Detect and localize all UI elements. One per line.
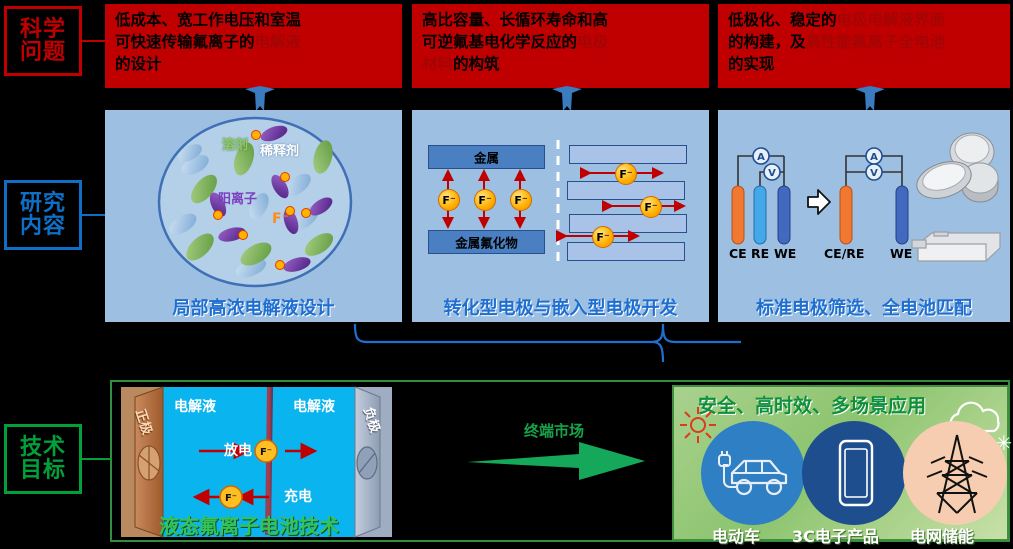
connector-research <box>82 214 105 216</box>
rail-goal-line1: 技术 <box>20 436 66 459</box>
svg-text:V: V <box>768 168 776 179</box>
connector-goal <box>82 458 110 460</box>
metal-label: 金属 <box>429 148 544 167</box>
fluoride-ion-dot <box>275 260 285 270</box>
metal-fluoride-label: 金属氟化物 <box>429 233 544 252</box>
label-cation: 阳离子 <box>218 188 257 207</box>
three-electrode-setup: A V <box>726 140 812 260</box>
panel-caption-electrolyte: 局部高浓电解液设计 <box>105 294 402 320</box>
arrow-down-3 <box>853 86 887 112</box>
intercalation-layer <box>569 145 687 164</box>
electrode-label-re: RE <box>751 246 769 261</box>
connector-science <box>82 40 105 42</box>
rail-label-research: 研究 内容 <box>4 180 82 250</box>
fluoride-ion-dot <box>238 230 248 240</box>
applications-panel: 安全、高时效、多场景应用 ✳✳✳ <box>672 385 1009 541</box>
electrode-label-ce: CE <box>729 246 747 261</box>
svg-text:F⁻: F⁻ <box>260 447 272 458</box>
science-question-box-3: 低极化、稳定的电极电解液界面 的构建，及高性能氟离子全电池 的实现 <box>718 4 1010 88</box>
market-arrow-icon <box>467 440 647 482</box>
label-solvent: 溶剂 <box>222 134 248 153</box>
svg-text:A: A <box>870 152 878 163</box>
rail-science-line1: 科学 <box>20 18 66 41</box>
fluoride-ion-dot <box>251 130 261 140</box>
panel-caption-electrodes: 转化型电极与嵌入型电极开发 <box>412 294 709 320</box>
fluoride-ion-dot <box>280 172 290 182</box>
sq2-line3: 材料的构筑 <box>422 53 701 75</box>
fluoride-ion-badge: F⁻ <box>592 226 614 248</box>
fluoride-ion-dot <box>213 210 223 220</box>
fluoride-ion-badge: F⁻ <box>615 163 637 185</box>
sq3-line3: 的实现 <box>728 53 1002 75</box>
metal-fluoride-bar: 金属氟化物 <box>428 230 545 254</box>
sq1-line3: 的设计 <box>115 53 394 75</box>
research-panel-cell-testing: A V CE RE WE A V CE/RE WE 标准电极筛选、全电池匹 <box>718 110 1010 322</box>
rail-research-line1: 研究 <box>20 192 66 215</box>
svg-text:A: A <box>757 152 765 163</box>
battery-caption: 液态氟离子电池技术 <box>159 510 339 539</box>
rail-goal-line2: 目标 <box>20 459 66 482</box>
label-fluoride-ion: F⁻ <box>272 211 289 227</box>
electrode-label-cere: CE/RE <box>824 246 864 261</box>
fluoride-ion-badge: F⁻ <box>640 196 662 218</box>
coin-cells-icon <box>914 132 1006 210</box>
app-label-ev: 电动车 <box>712 523 760 547</box>
rail-research-line2: 内容 <box>20 215 66 238</box>
smartphone-icon <box>836 439 876 509</box>
metal-bar: 金属 <box>428 145 545 169</box>
transition-arrow-icon <box>806 188 832 218</box>
science-question-box-2: 高比容量、长循环寿命和高 可逆氟基电化学反应的电极 材料的构筑 <box>412 4 709 88</box>
fluoride-ion-badge: F⁻ <box>474 189 496 211</box>
two-electrode-setup: A V <box>836 140 922 260</box>
charge-label: 充电 <box>284 486 312 506</box>
discharge-label: 放电 <box>224 440 252 460</box>
electrolyte-label-right: 电解液 <box>293 396 335 416</box>
electric-car-icon <box>714 445 794 503</box>
fluoride-ion-badge: F⁻ <box>438 189 460 211</box>
power-tower-icon <box>921 433 993 517</box>
rail-science-line2: 问题 <box>20 41 66 64</box>
rail-label-goal: 技术 目标 <box>4 424 82 494</box>
arrow-down-1 <box>243 86 277 112</box>
pouch-cell-icon <box>912 218 1008 268</box>
applications-headline: 安全、高时效、多场景应用 <box>698 391 926 418</box>
sq1-line1: 低成本、宽工作电压和室温 <box>115 9 394 31</box>
electrode-label-we2: WE <box>890 246 912 261</box>
arrow-down-2 <box>550 86 584 112</box>
rail-label-science: 科学 问题 <box>4 6 82 76</box>
market-arrow-label: 终端市场 <box>524 420 584 441</box>
fluoride-ion-badge: F⁻ <box>510 189 532 211</box>
sq3-line1: 低极化、稳定的电极电解液界面 <box>728 9 1002 31</box>
app-label-grid: 电网储能 <box>910 523 974 547</box>
fluoride-ion-dot <box>301 208 311 218</box>
app-label-3c: 3C电子产品 <box>792 523 879 547</box>
panel-divider-dashed <box>556 140 560 262</box>
sq2-line2: 可逆氟基电化学反应的电极 <box>422 31 701 53</box>
svg-text:V: V <box>870 168 878 179</box>
label-diluent: 稀释剂 <box>260 140 299 159</box>
research-panel-electrolyte: 溶剂 稀释剂 阳离子 F⁻ 局部高浓电解液设计 <box>105 110 402 322</box>
brace-connector <box>105 322 895 374</box>
svg-text:F⁻: F⁻ <box>225 493 237 504</box>
technology-goal-frame: F⁻ F⁻ 正极 负极 电解液 电解液 放电 充电 液态氟离子电池技术 终端市场… <box>110 380 1010 542</box>
sq2-line1: 高比容量、长循环寿命和高 <box>422 9 701 31</box>
sq3-line2: 的构建，及高性能氟离子全电池 <box>728 31 1002 53</box>
research-panel-electrodes: 金属 金属氟化物 F⁻ F⁻ F⁻ F⁻ F⁻ F⁻ 转化型电极与嵌入型 <box>412 110 709 322</box>
electrolyte-label-left: 电解液 <box>174 396 216 416</box>
panel-caption-cell-testing: 标准电极筛选、全电池匹配 <box>718 294 1010 320</box>
science-question-box-1: 低成本、宽工作电压和室温 可快速传输氟离子的电解液 的设计 <box>105 4 402 88</box>
sq1-line2: 可快速传输氟离子的电解液 <box>115 31 394 53</box>
electrode-label-we: WE <box>774 246 796 261</box>
